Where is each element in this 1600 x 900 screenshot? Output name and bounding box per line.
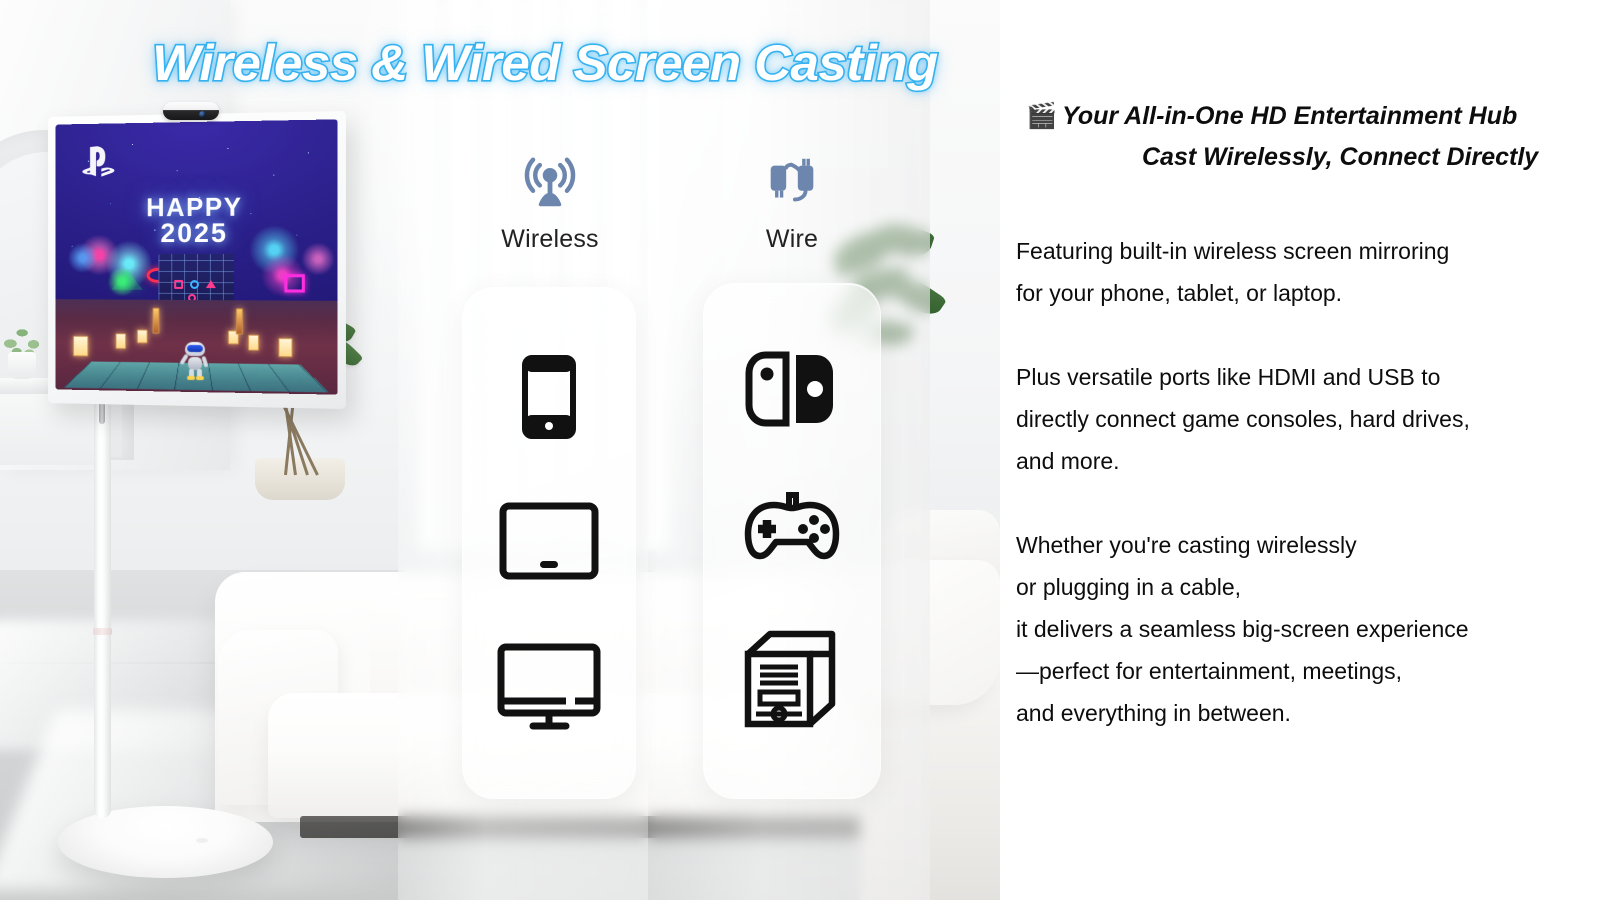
paragraph-line: it delivers a seamless big-screen experi… [1016, 608, 1592, 650]
device-card-wireless [462, 287, 636, 799]
paragraph-line: Whether you're casting wirelessly [1016, 524, 1592, 566]
lantern-pole [236, 308, 243, 334]
playstation-logo [77, 145, 120, 181]
lantern [248, 335, 259, 351]
tv-text-happy: HAPPY [56, 193, 338, 221]
lantern-pole [153, 308, 160, 334]
tv-stand-pole-ring [93, 628, 112, 635]
room-scene-photo: HAPPY 2025 [0, 0, 1000, 900]
column-label-wireless: Wireless [460, 225, 640, 254]
page-title: Wireless & Wired Screen Casting [152, 34, 937, 92]
tv-stand-pole [94, 398, 111, 818]
ps-symbol-circle [190, 280, 199, 289]
info-panel: 🎬Your All-in-One HD Entertainment Hub Ca… [1000, 0, 1600, 900]
lantern [73, 336, 88, 357]
clapperboard-icon: 🎬 [1026, 102, 1057, 130]
gamepad-icon [739, 489, 845, 567]
tv-screen: HAPPY 2025 [56, 119, 338, 394]
column-header-wireless: Wireless [460, 152, 640, 254]
smartphone-icon [521, 355, 577, 439]
ps-symbol-triangle [206, 280, 216, 288]
desktop-tower-icon [740, 629, 844, 731]
paragraph-line: Featuring built-in wireless screen mirro… [1016, 230, 1592, 272]
firework-blue [67, 242, 98, 274]
shelf-plant-pot [8, 352, 36, 379]
paragraph-line: or plugging in a cable, [1016, 566, 1592, 608]
paragraph-line: directly connect game consoles, hard dri… [1016, 398, 1592, 440]
monitor-icon [497, 643, 601, 731]
tv-stand-base-marking [196, 838, 208, 843]
webcam [163, 102, 219, 120]
paragraph: Plus versatile ports like HDMI and USB t… [1016, 356, 1592, 482]
ps-symbol-square [174, 280, 183, 289]
nintendo-switch-icon [744, 351, 840, 427]
paragraph: Whether you're casting wirelessly or plu… [1016, 524, 1592, 734]
television: HAPPY 2025 [44, 114, 344, 406]
neon-square-magenta [284, 274, 304, 292]
paragraph-line: and everything in between. [1016, 692, 1592, 734]
description-block: Featuring built-in wireless screen mirro… [1008, 230, 1592, 734]
column-label-wire: Wire [702, 225, 882, 254]
lantern [115, 333, 126, 349]
headline-line-1: 🎬Your All-in-One HD Entertainment Hub [1008, 96, 1592, 137]
paragraph-line: and more. [1016, 440, 1592, 482]
headline-line-2: Cast Wirelessly, Connect Directly [1008, 137, 1592, 178]
astro-bot-character [182, 342, 208, 380]
neon-triangle-green [112, 270, 143, 290]
column-header-wire: Wire [702, 152, 882, 254]
product-banner: HAPPY 2025 [0, 0, 1600, 900]
lantern [137, 329, 148, 343]
tv-stand-base [58, 806, 273, 878]
device-card-wire [703, 283, 881, 799]
lantern [278, 338, 292, 357]
paragraph-line: for your phone, tablet, or laptop. [1016, 272, 1592, 314]
tablet-icon [499, 502, 599, 580]
headline-text-1: Your All-in-One HD Entertainment Hub [1062, 102, 1517, 130]
headline-block: 🎬Your All-in-One HD Entertainment Hub Ca… [1008, 96, 1592, 178]
paragraph-line: Plus versatile ports like HDMI and USB t… [1016, 356, 1592, 398]
firework-pink-far-right [301, 242, 336, 277]
paragraph: Featuring built-in wireless screen mirro… [1016, 230, 1592, 314]
usb-cable-icon [761, 152, 823, 214]
webcam-lens [199, 111, 206, 118]
wireless-broadcast-icon [519, 152, 581, 214]
paragraph-line: —perfect for entertainment, meetings, [1016, 650, 1592, 692]
